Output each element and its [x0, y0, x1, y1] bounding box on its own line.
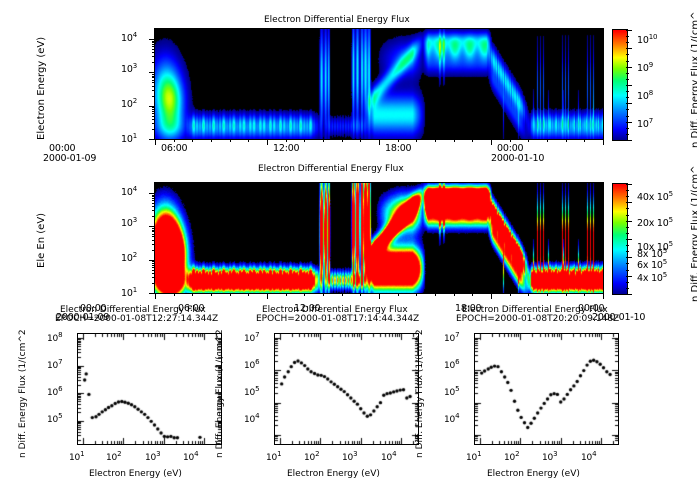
axis-tick-mark — [304, 139, 305, 142]
colorbar-tick-mark — [626, 85, 632, 86]
axis-tick-mark — [149, 226, 155, 227]
axis-tick-mark — [472, 139, 473, 142]
axis-tick-mark — [152, 267, 155, 268]
colorbar-tick-mark — [626, 184, 632, 185]
axis-tick-mark — [152, 277, 155, 278]
axis-tick-mark — [152, 265, 155, 266]
axis-tick-mark — [547, 139, 548, 142]
axis-tick-mark — [152, 270, 155, 271]
spectrogram-top-ytick-3: 103 — [121, 62, 137, 75]
axis-tick-mark — [491, 293, 492, 299]
spectrum-3-ytick-5: 105 — [444, 385, 459, 398]
axis-tick-mark — [155, 139, 156, 145]
axis-tick-mark — [152, 273, 155, 274]
axis-tick-mark — [360, 293, 361, 296]
spectrogram-top-xtick-2: 12:00 — [273, 143, 299, 154]
axis-tick-mark — [152, 90, 155, 91]
axis-tick-mark — [152, 41, 155, 42]
axis-tick-mark — [152, 42, 155, 43]
colorbar-tick-mark — [626, 91, 629, 92]
axis-tick-mark — [323, 139, 324, 142]
spectrum-2-ylabel: n Diff. Energy Flux (1/(cm^2 — [215, 329, 225, 458]
axis-tick-mark — [152, 62, 155, 63]
spectrogram-top-ytick-1: 101 — [121, 132, 137, 145]
colorbar-tick-mark — [626, 122, 632, 123]
colorbar-tick-mark — [626, 190, 629, 191]
spectrum-1-ytick-8: 108 — [47, 331, 62, 344]
axis-tick-mark — [416, 293, 417, 296]
axis-tick-mark — [152, 116, 155, 117]
colorbar-bottom-tick-40: 40x 105 — [637, 190, 673, 203]
axis-tick-mark — [584, 293, 585, 296]
axis-tick-mark — [152, 119, 155, 120]
colorbar-tick-mark — [626, 48, 632, 49]
colorbar-tick-mark — [626, 103, 632, 104]
spectrum-2-ytick-5: 105 — [244, 385, 259, 398]
spectrogram-bottom-ytick-2: 102 — [121, 251, 137, 264]
spectrum-1-xtick-2: 102 — [106, 450, 121, 463]
axis-tick-mark — [342, 293, 343, 296]
axis-tick-mark — [152, 52, 155, 53]
spectrum-1-xlabel: Electron Energy (eV) — [89, 469, 182, 479]
axis-tick-mark — [603, 139, 604, 145]
spectrogram-top-xdate-0: 2000-01-09 — [43, 153, 96, 164]
axis-tick-mark — [152, 74, 155, 75]
colorbar-tick-mark — [626, 233, 629, 234]
spectrum-1-ylabel: n Diff. Energy Flux (1/(cm^2 — [18, 329, 28, 458]
axis-tick-mark — [152, 123, 155, 124]
spectrogram-top-title: Electron Differential Energy Flux — [264, 15, 410, 25]
axis-tick-mark — [152, 216, 155, 217]
colorbar-tick-mark — [626, 30, 632, 31]
axis-tick-mark — [566, 139, 567, 142]
colorbar-bottom-tick-6: 6x 105 — [637, 258, 667, 271]
spectrogram-bottom-title: Electron Differential Energy Flux — [258, 164, 404, 174]
colorbar-tick-mark — [626, 79, 629, 80]
spectrogram-bottom-image — [155, 183, 603, 293]
colorbar-tick-mark — [626, 196, 629, 197]
spectrum-2-xlabel: Electron Energy (eV) — [287, 469, 380, 479]
axis-tick-mark — [152, 196, 155, 197]
axis-tick-mark — [149, 260, 155, 261]
colorbar-tick-mark — [626, 109, 629, 110]
axis-tick-mark — [152, 228, 155, 229]
axis-tick-mark — [435, 293, 436, 296]
colorbar-tick-mark — [626, 67, 632, 68]
axis-tick-mark — [323, 293, 324, 296]
axis-tick-mark — [152, 109, 155, 110]
spectrogram-top-xtick-1: 06:00 — [161, 143, 187, 154]
axis-tick-mark — [149, 39, 155, 40]
axis-tick-mark — [152, 49, 155, 50]
spectrum-3-ytick-7: 107 — [444, 331, 459, 344]
spectrum-3-xlabel: Electron Energy (eV) — [487, 469, 580, 479]
spectrum-3-plot — [474, 333, 619, 445]
colorbar-tick-mark — [626, 134, 629, 135]
colorbar-tick-mark — [626, 239, 632, 240]
axis-tick-mark — [510, 139, 511, 142]
axis-tick-mark — [152, 96, 155, 97]
axis-tick-mark — [286, 139, 287, 142]
axis-tick-mark — [152, 44, 155, 45]
spectrogram-top-ytick-4: 104 — [121, 31, 137, 44]
axis-tick-mark — [603, 293, 604, 299]
axis-tick-mark — [286, 293, 287, 296]
colorbar-tick-mark — [626, 288, 629, 289]
axis-tick-mark — [149, 72, 155, 73]
axis-tick-mark — [152, 195, 155, 196]
spectrogram-top-image — [155, 29, 603, 139]
colorbar-tick-mark — [626, 140, 632, 141]
colorbar-tick-mark — [626, 97, 629, 98]
colorbar-top-tick-10: 1010 — [637, 33, 657, 46]
colorbar-tick-mark — [626, 61, 629, 62]
axis-tick-mark — [149, 193, 155, 194]
axis-tick-mark — [491, 139, 492, 145]
axis-tick-mark — [152, 77, 155, 78]
spectrum-1-ytick-6: 106 — [47, 385, 62, 398]
axis-tick-mark — [174, 139, 175, 142]
axis-tick-mark — [267, 293, 268, 299]
colorbar-tick-mark — [626, 215, 629, 216]
colorbar-tick-mark — [626, 116, 629, 117]
axis-tick-mark — [152, 244, 155, 245]
spectrum-3-ytick-6: 106 — [444, 358, 459, 371]
axis-tick-mark — [152, 206, 155, 207]
axis-tick-mark — [248, 139, 249, 142]
spectrum-2-xtick-3: 103 — [342, 450, 357, 463]
spectrogram-bottom-ylabel: Ele En (eV) — [36, 213, 47, 268]
axis-tick-mark — [152, 263, 155, 264]
axis-tick-mark — [152, 250, 155, 251]
axis-tick-mark — [155, 293, 156, 299]
colorbar-tick-mark — [626, 208, 629, 209]
axis-tick-mark — [152, 46, 155, 47]
spectrum-3-ylabel: n Diff. Energy Flux (1/(cm^2 — [415, 329, 425, 458]
axis-tick-mark — [528, 293, 529, 296]
axis-tick-mark — [510, 293, 511, 296]
axis-tick-mark — [192, 139, 193, 142]
spectrogram-bottom-ytick-3: 103 — [121, 216, 137, 229]
axis-tick-mark — [149, 139, 155, 140]
axis-tick-mark — [152, 200, 155, 201]
colorbar-tick-mark — [626, 73, 629, 74]
colorbar-tick-mark — [626, 227, 629, 228]
spectrum-2-plot — [274, 333, 419, 445]
spectrum-3-ytick-4: 104 — [444, 412, 459, 425]
spectrum-2-ytick-4: 104 — [244, 412, 259, 425]
colorbar-top-tick-9: 109 — [637, 61, 653, 74]
spectrum-2-ytick-7: 107 — [244, 331, 259, 344]
axis-tick-mark — [211, 293, 212, 296]
axis-tick-mark — [192, 293, 193, 296]
colorbar-tick-mark — [626, 251, 629, 252]
spectrogram-bottom-ytick-1: 101 — [121, 286, 137, 299]
spectrum-1-ytick-7: 107 — [47, 358, 62, 371]
axis-tick-mark — [152, 56, 155, 57]
colorbar-top-tick-7: 107 — [637, 117, 653, 130]
spectrum-3-xtick-4: 104 — [581, 450, 596, 463]
axis-tick-mark — [152, 230, 155, 231]
spectrogram-top-xtick-3: 18:00 — [385, 143, 411, 154]
axis-tick-mark — [152, 231, 155, 232]
colorbar-tick-mark — [626, 276, 632, 277]
axis-tick-mark — [230, 139, 231, 142]
colorbar-tick-mark — [626, 36, 629, 37]
axis-tick-mark — [152, 107, 155, 108]
axis-tick-mark — [152, 80, 155, 81]
axis-tick-mark — [454, 293, 455, 296]
colorbar-tick-mark — [626, 221, 632, 222]
spectrum-1-xtick-1: 101 — [69, 450, 84, 463]
axis-tick-mark — [360, 139, 361, 142]
spectrogram-top-ylabel: Electron Energy (eV) — [36, 37, 47, 140]
axis-tick-mark — [152, 203, 155, 204]
axis-tick-mark — [398, 139, 399, 142]
colorbar-bottom-tick-20: 20x 105 — [637, 216, 673, 229]
axis-tick-mark — [248, 293, 249, 296]
colorbar-tick-mark — [626, 245, 629, 246]
colorbar-tick-mark — [626, 294, 632, 295]
spectrogram-top-xdate-1: 2000-01-10 — [491, 153, 544, 164]
spectrogram-bottom-ytick-4: 104 — [121, 185, 137, 198]
axis-tick-mark — [152, 111, 155, 112]
axis-tick-mark — [304, 293, 305, 296]
spectrum-2-ytick-6: 106 — [244, 358, 259, 371]
colorbar-tick-mark — [626, 270, 629, 271]
axis-tick-mark — [472, 293, 473, 296]
axis-tick-mark — [547, 293, 548, 296]
axis-tick-mark — [152, 236, 155, 237]
colorbar-tick-mark — [626, 263, 629, 264]
axis-tick-mark — [152, 76, 155, 77]
colorbar-tick-mark — [626, 54, 629, 55]
spectrum-3-xtick-2: 102 — [504, 450, 519, 463]
spectrum-1-ytick-5: 105 — [47, 412, 62, 425]
spectrum-2-xtick-2: 102 — [304, 450, 319, 463]
axis-tick-mark — [152, 129, 155, 130]
axis-tick-mark — [398, 293, 399, 296]
spectrum-1-xtick-3: 103 — [145, 450, 160, 463]
axis-tick-mark — [435, 139, 436, 142]
axis-tick-mark — [149, 106, 155, 107]
spectrum-1-plot — [77, 333, 222, 445]
spectrogram-top-ytick-2: 102 — [121, 97, 137, 110]
axis-tick-mark — [152, 198, 155, 199]
axis-tick-mark — [152, 261, 155, 262]
spectrum-1-epoch: EPOCH=2000-01-08T12:27:14.344Z — [55, 314, 218, 324]
colorbar-tick-mark — [626, 128, 629, 129]
colorbar-tick-mark — [626, 257, 632, 258]
spectrum-2-xtick-1: 101 — [266, 450, 281, 463]
axis-tick-mark — [152, 82, 155, 83]
spectrum-1-xtick-4: 104 — [183, 450, 198, 463]
spectrum-3-xtick-1: 101 — [466, 450, 481, 463]
axis-tick-mark — [267, 139, 268, 145]
axis-tick-mark — [174, 293, 175, 296]
spectrum-3-xtick-3: 103 — [542, 450, 557, 463]
axis-tick-mark — [584, 139, 585, 142]
axis-tick-mark — [152, 240, 155, 241]
axis-tick-mark — [152, 210, 155, 211]
spectrum-3-epoch: EPOCH=2000-01-08T20:20:09.148Z — [456, 314, 619, 324]
axis-tick-mark — [566, 293, 567, 296]
colorbar-top-tick-8: 108 — [637, 89, 653, 102]
axis-tick-mark — [152, 86, 155, 87]
spectrogram-top-colorbar-label: n Diff. Energy Flux (1/(cm^ — [690, 11, 697, 148]
spectrum-2-epoch: EPOCH=2000-01-08T17:14:44.344Z — [256, 314, 419, 324]
axis-tick-mark — [528, 139, 529, 142]
spectrum-2-xtick-4: 104 — [381, 450, 396, 463]
colorbar-tick-mark — [626, 202, 632, 203]
axis-tick-mark — [149, 293, 155, 294]
axis-tick-mark — [454, 139, 455, 142]
axis-tick-mark — [152, 113, 155, 114]
axis-tick-mark — [152, 234, 155, 235]
axis-tick-mark — [152, 283, 155, 284]
axis-tick-mark — [230, 293, 231, 296]
colorbar-tick-mark — [626, 282, 629, 283]
axis-tick-mark — [416, 139, 417, 142]
spectrogram-bottom-colorbar-label: n Diff. Energy Flux (1/(cm^ — [690, 165, 697, 302]
axis-tick-mark — [379, 293, 380, 299]
axis-tick-mark — [379, 139, 380, 145]
axis-tick-mark — [211, 139, 212, 142]
axis-tick-mark — [342, 139, 343, 142]
colorbar-bottom-tick-4: 4x 105 — [637, 271, 667, 284]
colorbar-tick-mark — [626, 42, 629, 43]
